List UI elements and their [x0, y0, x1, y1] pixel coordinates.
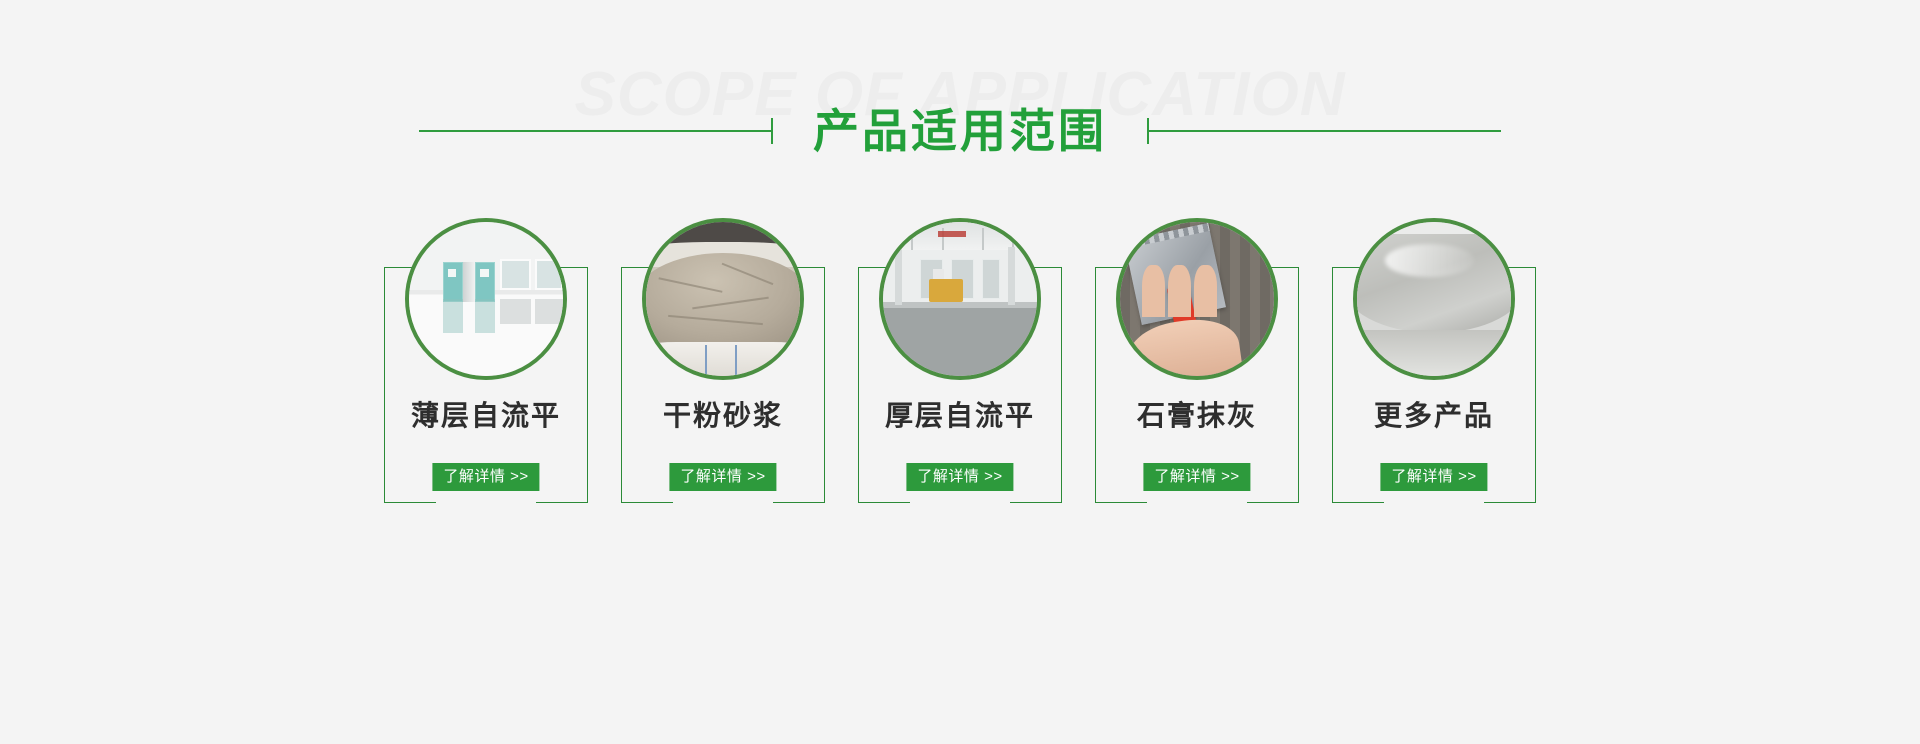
title-rule-right-line: [1149, 130, 1501, 132]
learn-more-button[interactable]: 了解详情 >>: [1143, 463, 1250, 491]
page-title: 产品适用范围: [773, 102, 1147, 160]
scope-of-application-section: SCOPE OF APPLICATION 产品适用范围: [0, 0, 1920, 744]
card-circle-image: [879, 218, 1041, 380]
card-circle-image: [642, 218, 804, 380]
card-title: 干粉砂浆: [621, 396, 825, 436]
more-products-photo: [1357, 222, 1511, 376]
title-rule-right: [1147, 118, 1501, 144]
application-card[interactable]: 厚层自流平 了解详情 >>: [858, 218, 1062, 503]
application-card[interactable]: 干粉砂浆 了解详情 >>: [621, 218, 825, 503]
card-title: 石膏抹灰: [1095, 396, 1299, 436]
gypsum-plaster-trowel-photo: [1120, 222, 1274, 376]
application-card-list: 薄层自流平 了解详情 >> 干粉砂浆: [0, 218, 1920, 503]
card-title: 更多产品: [1332, 396, 1536, 436]
application-card[interactable]: 薄层自流平 了解详情 >>: [384, 218, 588, 503]
card-circle-image: [1116, 218, 1278, 380]
dry-powder-mortar-photo: [646, 222, 800, 376]
title-row: 产品适用范围: [0, 102, 1920, 160]
card-title: 厚层自流平: [858, 396, 1062, 436]
card-circle-image: [1353, 218, 1515, 380]
learn-more-button[interactable]: 了解详情 >>: [1380, 463, 1487, 491]
learn-more-button[interactable]: 了解详情 >>: [669, 463, 776, 491]
application-card[interactable]: 石膏抹灰 了解详情 >>: [1095, 218, 1299, 503]
card-circle-image: [405, 218, 567, 380]
title-tick-left: [771, 118, 773, 144]
thin-self-leveling-floor-photo: [409, 222, 563, 376]
section-header: SCOPE OF APPLICATION 产品适用范围: [0, 60, 1920, 180]
thick-self-leveling-floor-photo: [883, 222, 1037, 376]
learn-more-button[interactable]: 了解详情 >>: [906, 463, 1013, 491]
title-rule-left-line: [419, 130, 771, 132]
title-rule-left: [419, 118, 773, 144]
application-card[interactable]: 更多产品 了解详情 >>: [1332, 218, 1536, 503]
learn-more-button[interactable]: 了解详情 >>: [432, 463, 539, 491]
card-title: 薄层自流平: [384, 396, 588, 436]
